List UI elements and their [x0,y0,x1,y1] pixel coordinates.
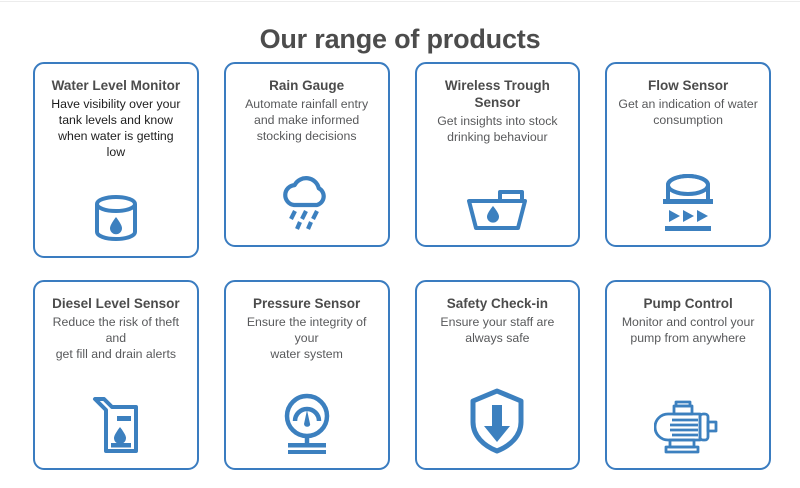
product-card-wireless-trough-sensor[interactable]: Wireless Trough Sensor Get insights into… [415,62,581,247]
card-description: Automate rainfall entry and make informe… [245,96,368,144]
card-description: Get an indication of water consumption [618,96,757,128]
rain-cloud-icon [235,173,379,235]
product-card-pressure-sensor[interactable]: Pressure Sensor Ensure the integrity of … [224,280,390,470]
card-title: Wireless Trough Sensor [426,77,570,111]
product-card-safety-check-in[interactable]: Safety Check-in Ensure your staff are al… [415,280,581,470]
flow-meter-icon [616,171,760,235]
product-row-1: Water Level Monitor Have visibility over… [33,62,771,258]
top-divider [0,1,800,2]
card-description: Ensure your staff are always safe [440,314,554,346]
card-title: Rain Gauge [269,77,344,94]
water-tank-icon [44,194,188,246]
card-title: Water Level Monitor [52,77,181,94]
shield-arrow-down-icon [426,388,570,458]
card-description: Have visibility over your tank levels an… [51,96,180,160]
product-card-diesel-level-sensor[interactable]: Diesel Level Sensor Reduce the risk of t… [33,280,199,470]
product-card-rain-gauge[interactable]: Rain Gauge Automate rainfall entry and m… [224,62,390,247]
product-card-pump-control[interactable]: Pump Control Monitor and control your pu… [605,280,771,470]
card-title: Pressure Sensor [253,295,360,312]
pressure-gauge-icon [235,392,379,458]
product-card-grid: Water Level Monitor Have visibility over… [33,62,771,470]
electric-pump-motor-icon [616,396,760,458]
product-row-2: Diesel Level Sensor Reduce the risk of t… [33,280,771,470]
jerry-can-icon [44,392,188,458]
card-title: Safety Check-in [447,295,548,312]
card-title: Pump Control [644,295,733,312]
card-description: Monitor and control your pump from anywh… [622,314,755,346]
card-title: Flow Sensor [648,77,728,94]
page-title: Our range of products [0,24,800,55]
product-card-flow-sensor[interactable]: Flow Sensor Get an indication of water c… [605,62,771,247]
card-description: Get insights into stock drinking behavio… [437,113,557,145]
card-description: Reduce the risk of theft and get fill an… [53,314,179,362]
product-card-water-level-monitor[interactable]: Water Level Monitor Have visibility over… [33,62,199,258]
card-description: Ensure the integrity of your water syste… [247,314,367,362]
trough-icon [426,187,570,235]
card-title: Diesel Level Sensor [52,295,180,312]
